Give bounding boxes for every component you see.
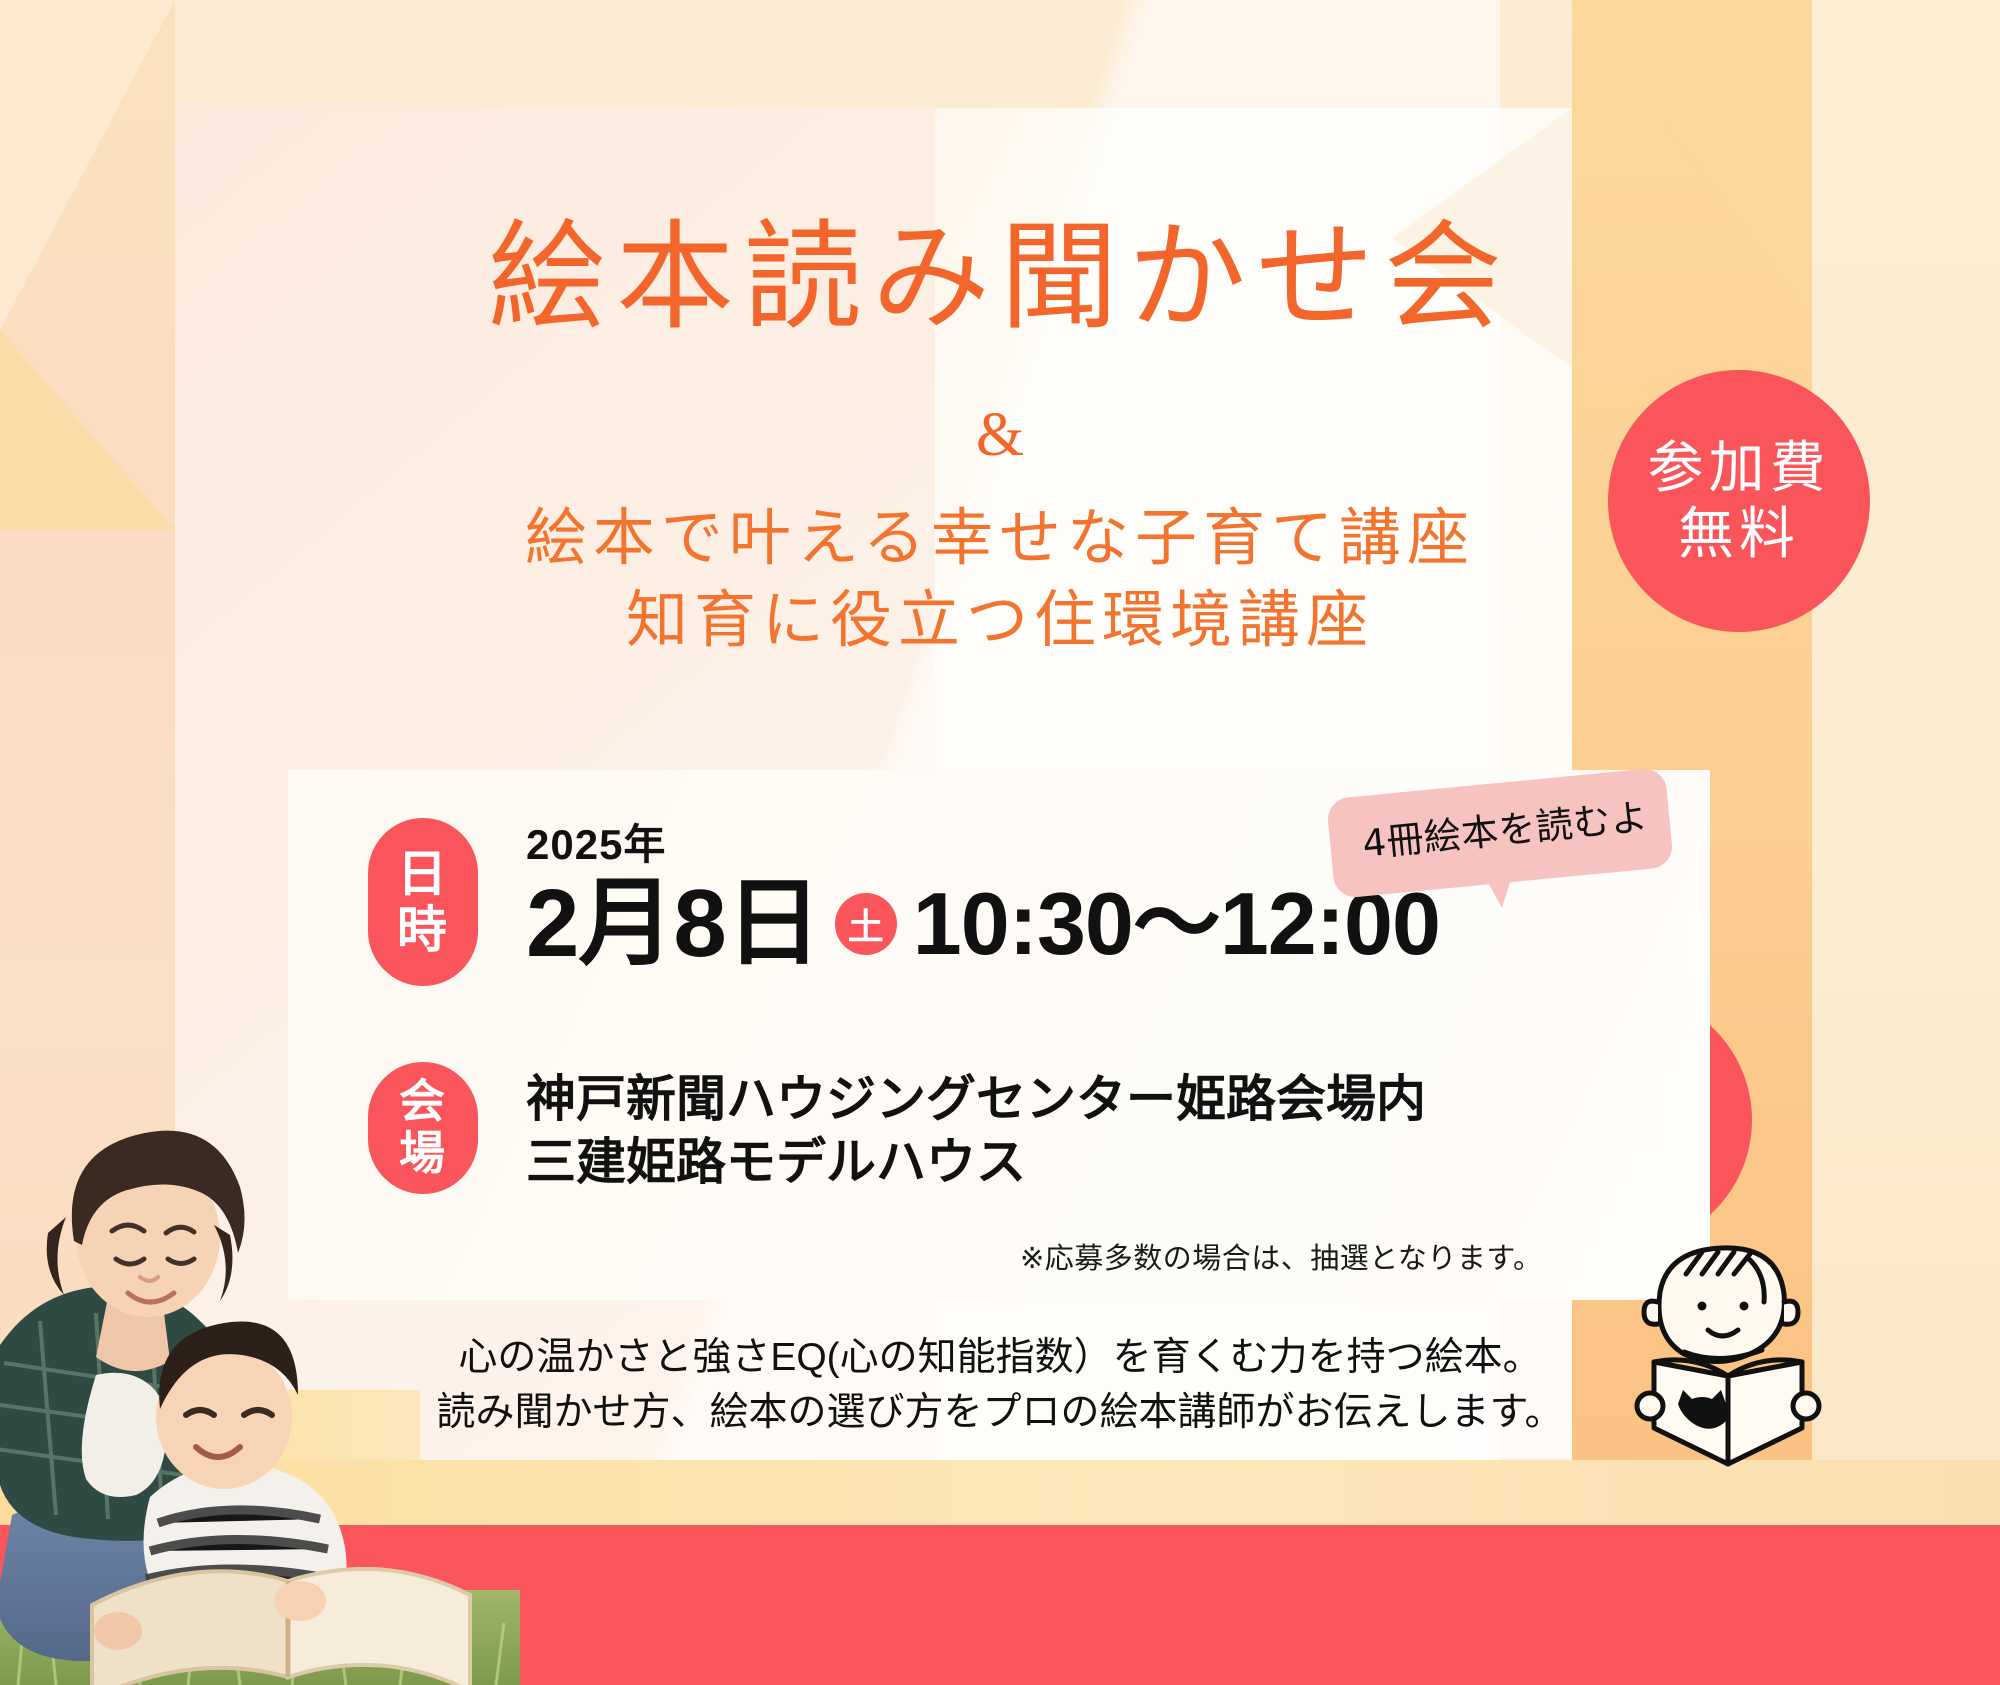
datetime-value-block: 2025年 2月8日 土 10:30〜12:00	[526, 818, 1440, 972]
venue-line-1: 神戸新聞ハウジングセンター姫路会場内	[526, 1068, 1426, 1131]
badge-free-line-1: 参加費	[1648, 435, 1831, 501]
venue-value-block: 神戸新聞ハウジングセンター姫路会場内 三建姫路モデルハウス	[526, 1062, 1426, 1194]
label-datetime-tag: 日 時	[368, 818, 478, 986]
badge-free-participation: 参加費 無料	[1608, 370, 1870, 632]
event-date: 2月8日	[526, 876, 821, 972]
badge-free-line-2: 無料	[1678, 501, 1800, 567]
label-datetime-char-2: 時	[397, 902, 449, 958]
info-row-venue: 会 場 神戸新聞ハウジングセンター姫路会場内 三建姫路モデルハウス	[368, 1062, 1426, 1194]
venue-line-2: 三建姫路モデルハウス	[526, 1131, 1426, 1194]
mother-and-child-reading-photo	[0, 1045, 520, 1685]
page-title: 絵本読み聞かせ会	[0, 215, 2000, 342]
boy-reading-book-illustration	[1598, 1230, 1848, 1480]
label-datetime-char-1: 日	[397, 846, 449, 902]
speech-bubble-tail-icon	[1481, 866, 1519, 909]
event-day-of-week-badge: 土	[835, 893, 897, 955]
event-year: 2025年	[526, 824, 1440, 866]
info-row-datetime: 日 時 2025年 2月8日 土 10:30〜12:00	[368, 818, 1440, 986]
event-date-line: 2月8日 土 10:30〜12:00	[526, 876, 1440, 972]
poster-root: 絵本読み聞かせ会 & 絵本で叶える幸せな子育て講座 知育に役立つ住環境講座 参加…	[0, 0, 2000, 1685]
lottery-note: ※応募多数の場合は、抽選となります。	[1020, 1235, 1543, 1277]
